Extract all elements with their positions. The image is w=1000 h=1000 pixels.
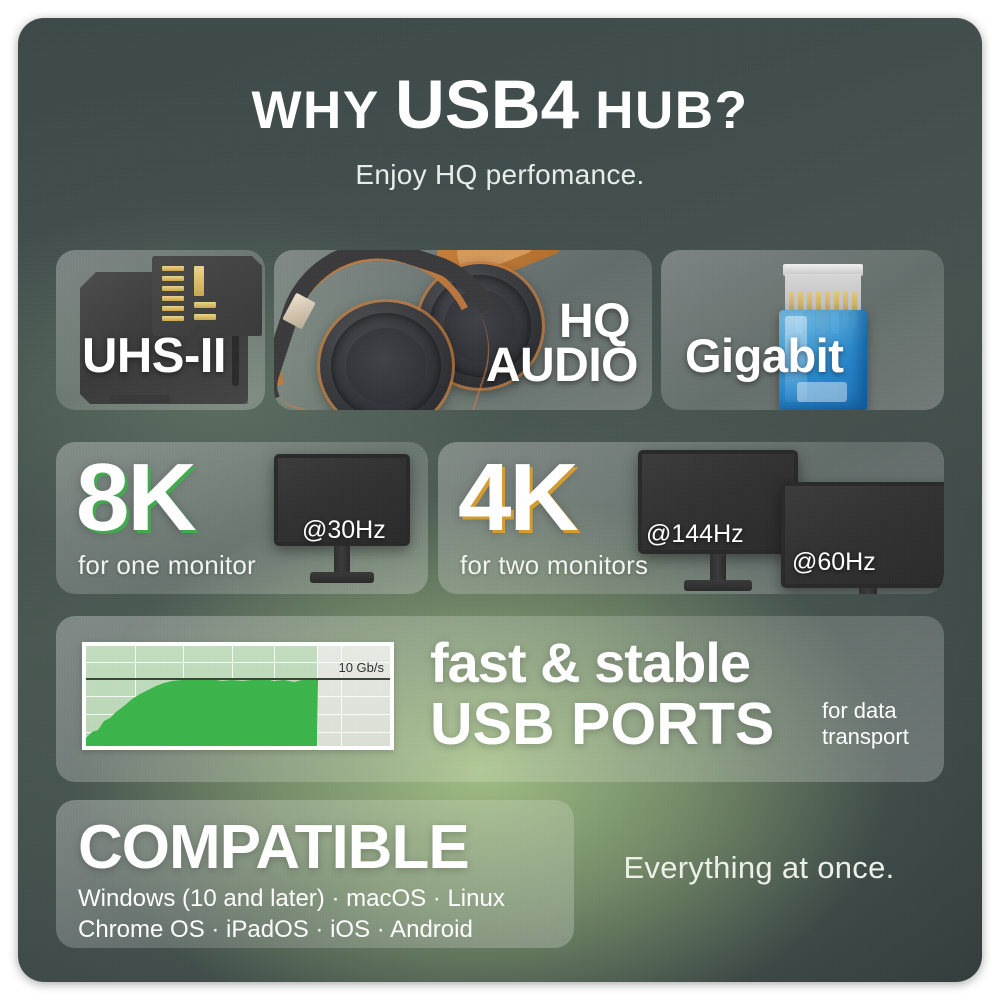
footer-note: Everything at once. [574, 850, 944, 886]
resolution-8k: 8K [76, 450, 195, 546]
ports-headline-line1: fast & stable [430, 630, 750, 695]
page-subtitle: Enjoy HQ perfomance. [18, 159, 982, 191]
throughput-threshold-line [86, 678, 390, 680]
page-title: WHY USB4 HUB? [18, 70, 982, 139]
throughput-label: 10 Gb/s [338, 660, 384, 675]
title-suffix: HUB? [579, 81, 748, 140]
ports-note: for data transport [822, 698, 909, 750]
infographic-poster: WHY USB4 HUB? Enjoy HQ perfomance. [18, 18, 982, 982]
poster-header: WHY USB4 HUB? Enjoy HQ perfomance. [18, 70, 982, 191]
feature-label-uhs: UHS-II [82, 328, 226, 384]
ports-note-line1: for data [822, 698, 909, 724]
refresh-rate-8k: @30Hz [302, 516, 386, 545]
feature-label-gigabit: Gigabit [685, 328, 843, 383]
feature-card-audio: HQ AUDIO [274, 250, 652, 410]
feature-card-gigabit: Gigabit [661, 250, 944, 410]
ports-note-line2: transport [822, 724, 909, 750]
display-card-8k: @30Hz 8K for one monitor [56, 442, 428, 594]
sd-card-lip [110, 395, 170, 403]
resolution-caption-8k: for one monitor [78, 550, 256, 581]
monitor-4k-secondary [781, 482, 944, 594]
headphone-earcup-front [320, 302, 452, 410]
throughput-chart: 10 Gb/s [82, 642, 394, 750]
title-prefix: WHY [252, 81, 395, 140]
compatibility-line1: Windows (10 and later) · macOS · Linux [78, 884, 505, 915]
refresh-rate-4k-secondary: @60Hz [792, 548, 876, 577]
compatibility-line2: Chrome OS · iPadOS · iOS · Android [78, 915, 505, 946]
feature-card-uhs: UHS-II [56, 250, 265, 410]
resolution-4k: 4K [458, 450, 577, 546]
display-card-4k: @144Hz @60Hz 4K for two monitors [438, 442, 944, 594]
rj45-latch [797, 382, 847, 402]
feature-label-audio-line2: AUDIO [486, 338, 638, 393]
resolution-caption-4k: for two monitors [460, 550, 648, 581]
compatibility-list: Windows (10 and later) · macOS · Linux C… [78, 884, 505, 945]
ports-headline-line2: USB PORTS [430, 690, 774, 758]
ports-card: 10 Gb/s fast & stable USB PORTS for data… [56, 616, 944, 782]
title-main: USB4 [395, 66, 579, 143]
compatibility-title: COMPATIBLE [78, 812, 469, 883]
rj45-contacts [785, 274, 861, 312]
refresh-rate-4k-primary: @144Hz [646, 520, 744, 549]
microsd-card-icon [152, 256, 262, 336]
compatibility-card: COMPATIBLE Windows (10 and later) · macO… [56, 800, 574, 948]
